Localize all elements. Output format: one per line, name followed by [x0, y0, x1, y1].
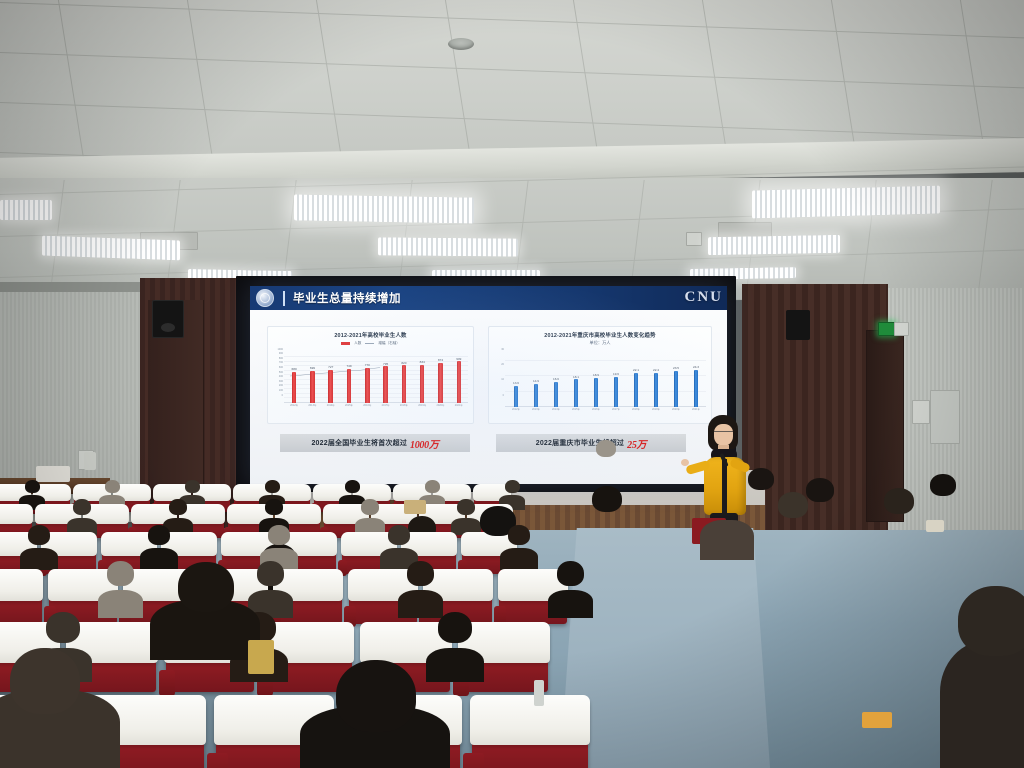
bar [383, 366, 388, 403]
bar [420, 365, 425, 403]
bar-value-label: 680 [292, 367, 297, 371]
bar-group: 909 [452, 349, 467, 403]
audience-member-head [388, 525, 410, 545]
audience-member-head [930, 474, 956, 496]
y-tick-label: 1000 [277, 349, 283, 352]
bar-group: 18.1 [568, 349, 584, 407]
wall-device-box [894, 322, 909, 336]
chart-legend: 人数 增幅（右轴） [268, 341, 473, 346]
audience-member-head [10, 648, 80, 714]
bar-group: 699 [305, 349, 320, 403]
audience-member-head [592, 486, 622, 512]
bar-value-label: 699 [310, 366, 315, 370]
ceiling-light-panel [0, 200, 52, 220]
x-tick-label: 2016年 [360, 403, 375, 407]
audience-member-head [185, 480, 200, 493]
glasses-icon [714, 431, 733, 436]
audience-member-head [806, 478, 834, 502]
bar-group: 834 [415, 349, 430, 403]
bar [514, 386, 519, 407]
personal-item [248, 640, 274, 674]
y-tick-label: 400 [279, 376, 283, 379]
exit-sign-icon [878, 322, 895, 336]
x-tick-label: 2012年 [508, 407, 524, 411]
seat-armrest [159, 670, 175, 696]
y-tick-label: 200 [279, 385, 283, 388]
bar-group: 23.5 [668, 349, 684, 407]
bar-group: 22.1 [628, 349, 644, 407]
bar-value-label: 18.9 [593, 373, 599, 377]
audience-member-head [148, 525, 170, 545]
cnu-logo-text: CNU [685, 289, 724, 306]
audience-member-shoulders [20, 548, 57, 570]
audience-member-head [407, 561, 434, 586]
seat-armrest [207, 753, 228, 768]
bar-value-label: 22.1 [633, 368, 639, 372]
y-tick-label: 0 [503, 395, 504, 398]
wall-access-panel[interactable] [930, 390, 960, 444]
x-tick-label: 2019年 [415, 403, 430, 407]
slide-title: 毕业生总量持续增加 [293, 290, 401, 306]
x-tick-label: 2018年 [628, 407, 644, 411]
y-tick-label: 20 [501, 364, 504, 367]
x-tick-label: 2015年 [342, 403, 357, 407]
presenter-hand-left [681, 459, 689, 466]
bar-value-label: 749 [346, 364, 351, 368]
chart-title: 2012-2021年重庆市高校毕业生人数变化趋势 [489, 331, 711, 339]
seat-headrest-cover [0, 504, 33, 524]
chart-plot-area: 01002003004005006007008009001000 6806997… [271, 349, 470, 411]
y-tick-label: 900 [279, 353, 283, 356]
ceiling-light-panel [708, 235, 840, 255]
x-tick-label: 2012年 [287, 403, 302, 407]
bar [402, 365, 407, 403]
audience-member-head [25, 480, 40, 493]
audience-member-head [557, 561, 584, 586]
bar [328, 370, 333, 403]
chart-chongqing-graduates: 2012-2021年重庆市高校毕业生人数变化趋势 单位：万人 0102030 1… [488, 326, 712, 424]
wall-speaker-right [786, 310, 810, 340]
legend-swatch-line [365, 343, 374, 344]
bar [365, 368, 370, 403]
y-tick-label: 300 [279, 381, 283, 384]
bar-value-label: 16.6 [553, 377, 559, 381]
seat-armrest [463, 753, 484, 768]
wall-speaker-left [152, 300, 184, 338]
bar-value-label: 874 [438, 358, 443, 362]
y-tick-label: 600 [279, 367, 283, 370]
x-tick-label: 2019年 [648, 407, 664, 411]
x-tick-label: 2018年 [397, 403, 412, 407]
legend-swatch-bar [341, 342, 350, 345]
x-tick-label: 2014年 [548, 407, 564, 411]
bar-value-label: 795 [383, 362, 388, 366]
bar-series: 13.614.916.618.118.919.622.122.423.524.3 [506, 349, 706, 407]
bar [614, 377, 619, 407]
bar-value-label: 834 [420, 360, 425, 364]
bar [554, 382, 559, 407]
device-on-table [84, 452, 96, 470]
lecture-hall-photo: 毕业生总量持续增加 CNU 2012-2021年高校毕业生人数 人数 增幅（右轴… [0, 0, 1024, 768]
x-axis-labels: 2012年2013年2014年2015年2016年2017年2018年2019年… [506, 407, 706, 415]
audience-member-shoulders [398, 590, 444, 618]
audience-member-head [46, 612, 80, 643]
personal-item [862, 712, 892, 728]
audience-seat[interactable] [472, 700, 588, 768]
audience-member-head [361, 499, 379, 515]
audience-member-head [505, 480, 520, 493]
personal-item [404, 500, 426, 514]
y-tick-label: 700 [279, 362, 283, 365]
audience-member-head [596, 440, 616, 457]
bar [534, 384, 539, 407]
bar [634, 373, 639, 407]
callout-highlight: 25万 [627, 436, 646, 451]
bar-group: 16.6 [548, 349, 564, 407]
audience-member-head [884, 488, 914, 514]
slide-body: 2012-2021年高校毕业生人数 人数 增幅（右轴） 010020030040… [250, 310, 727, 484]
audience-member-shoulders [500, 548, 537, 570]
bar-group: 14.9 [528, 349, 544, 407]
bar [654, 373, 659, 407]
audience-member-head [457, 499, 475, 515]
bar-value-label: 22.4 [653, 368, 659, 372]
audience-member-head [257, 561, 284, 586]
projection-screen: 毕业生总量持续增加 CNU 2012-2021年高校毕业生人数 人数 增幅（右轴… [250, 286, 727, 484]
audience-member-head [105, 480, 120, 493]
x-tick-label: 2013年 [528, 407, 544, 411]
bar-value-label: 727 [328, 365, 333, 369]
audience-member-shoulders [548, 590, 594, 618]
bar-group: 795 [378, 349, 393, 403]
chart-title: 2012-2021年高校毕业生人数 [268, 331, 473, 339]
bar [438, 363, 443, 403]
audience-member-shoulders [98, 590, 144, 618]
x-tick-label: 2014年 [323, 403, 338, 407]
callout-highlight: 1000万 [410, 436, 439, 451]
bar-series: 680699727749770795820834874909 [285, 349, 468, 403]
ceiling-light-panel [378, 237, 518, 256]
audience-member-shoulders [426, 648, 484, 682]
bar-group: 19.6 [608, 349, 624, 407]
paper-stack [36, 466, 70, 482]
audience-member-head [265, 499, 283, 515]
bar-value-label: 19.6 [613, 372, 619, 376]
bar-value-label: 820 [401, 361, 406, 365]
bar-value-label: 14.9 [533, 379, 539, 383]
x-tick-label: 2020年 [668, 407, 684, 411]
audience-member-head [169, 499, 187, 515]
bar-group: 749 [342, 349, 357, 403]
audience-member-head [425, 480, 440, 493]
bar [674, 371, 679, 407]
x-tick-label: 2017年 [608, 407, 624, 411]
bar-value-label: 13.6 [513, 381, 519, 385]
callout-chongqing: 2022届重庆市毕业生将超过 25万 [496, 434, 686, 452]
y-axis: 0102030 [492, 349, 505, 403]
x-tick-label: 2020年 [433, 403, 448, 407]
callout-national: 2022届全国毕业生将首次超过 1000万 [280, 434, 470, 452]
bar [594, 378, 599, 407]
ceiling-far-plane [0, 0, 1024, 160]
audience-member-head [336, 660, 416, 732]
header-divider [283, 291, 285, 306]
bar [292, 372, 297, 403]
audience-member-head [748, 468, 774, 490]
audience-member-head [28, 525, 50, 545]
y-tick-label: 0 [282, 395, 283, 398]
y-tick-label: 500 [279, 372, 283, 375]
chart-plot-area: 0102030 13.614.916.618.118.919.622.122.4… [492, 349, 708, 415]
seat-headrest-cover [0, 569, 43, 601]
ceiling-light-panel [752, 186, 940, 219]
audience-member-shoulders [940, 640, 1024, 768]
bar [694, 370, 699, 407]
bar-group: 680 [287, 349, 302, 403]
bar-value-label: 23.5 [673, 366, 679, 370]
audience-seat[interactable] [0, 572, 42, 624]
personal-item [926, 520, 944, 532]
audience-member-head [268, 525, 290, 545]
wall-thermostat[interactable] [912, 400, 930, 424]
legend-label-0: 人数 [354, 341, 361, 346]
audience-member-head [508, 525, 530, 545]
bar-group: 727 [323, 349, 338, 403]
bar-group: 770 [360, 349, 375, 403]
bar-group: 18.9 [588, 349, 604, 407]
bar-value-label: 909 [456, 357, 461, 361]
ceiling-sensor [686, 232, 702, 246]
chart-national-graduates: 2012-2021年高校毕业生人数 人数 增幅（右轴） 010020030040… [267, 326, 474, 424]
y-axis: 01002003004005006007008009001000 [271, 349, 284, 403]
audience-member-shoulders [700, 520, 754, 560]
y-tick-label: 800 [279, 358, 283, 361]
y-tick-label: 30 [501, 349, 504, 352]
x-tick-label: 2013年 [305, 403, 320, 407]
audience-member-head [265, 480, 280, 493]
personal-item [534, 680, 544, 706]
audience-member-head [73, 499, 91, 515]
audience-member-head [958, 586, 1024, 656]
smoke-detector-icon [448, 38, 474, 50]
audience-member-head [178, 562, 234, 612]
university-emblem-icon [256, 289, 274, 307]
callout-text: 2022届全国毕业生将首次超过 [311, 438, 407, 448]
audience-member-head [778, 492, 808, 518]
bar [310, 371, 315, 403]
chart-subtitle: 单位：万人 [489, 340, 711, 346]
x-axis-labels: 2012年2013年2014年2015年2016年2017年2018年2019年… [285, 403, 468, 411]
bar-value-label: 24.3 [693, 365, 699, 369]
ceiling-light-panel [294, 194, 474, 223]
audience-member-head [107, 561, 134, 586]
bar [347, 369, 352, 403]
audience-member-head [345, 480, 360, 493]
bar-group: 22.4 [648, 349, 664, 407]
audience-member-shoulders [140, 548, 177, 570]
legend-label-1: 增幅（右轴） [378, 341, 400, 346]
audience-member-head [438, 612, 472, 643]
bar-group: 24.3 [688, 349, 704, 407]
bar-group: 874 [433, 349, 448, 403]
slide-header: 毕业生总量持续增加 CNU [250, 286, 727, 310]
x-tick-label: 2017年 [378, 403, 393, 407]
x-tick-label: 2021年 [688, 407, 704, 411]
bar-value-label: 18.1 [573, 375, 579, 379]
bar [574, 379, 579, 407]
x-tick-label: 2021年 [452, 403, 467, 407]
x-tick-label: 2015年 [568, 407, 584, 411]
x-tick-label: 2016年 [588, 407, 604, 411]
bar [457, 361, 462, 403]
y-tick-label: 10 [501, 379, 504, 382]
seat-headrest-cover [470, 695, 591, 745]
bar-group: 13.6 [508, 349, 524, 407]
y-tick-label: 100 [279, 390, 283, 393]
bar-value-label: 770 [365, 363, 370, 367]
center-aisle [560, 528, 770, 768]
bar-group: 820 [397, 349, 412, 403]
